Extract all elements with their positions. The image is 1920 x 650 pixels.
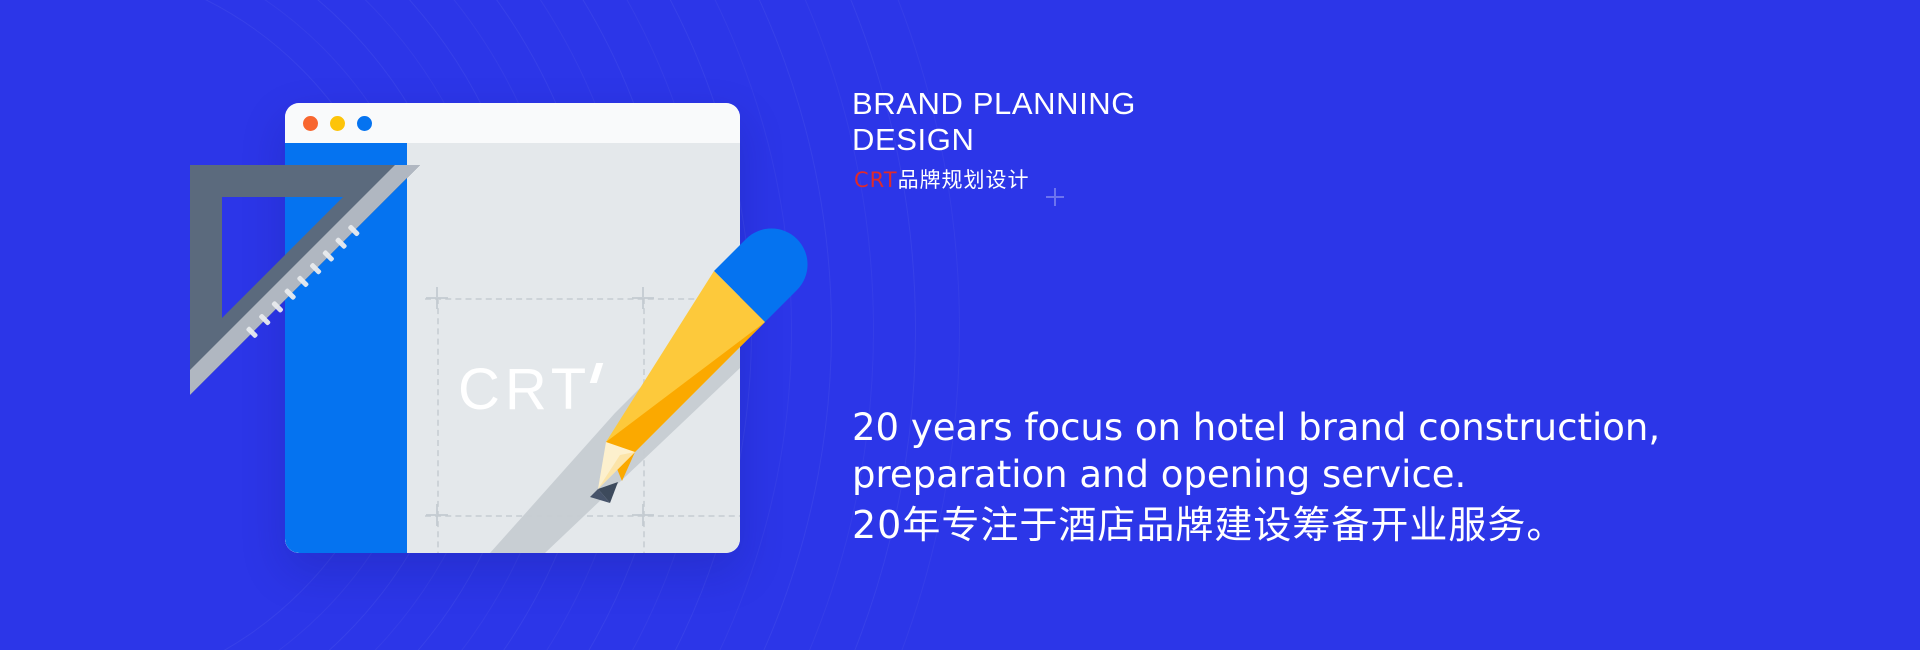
triangle-ruler-icon [180,155,430,405]
brand-design-illustration: CRT [0,0,860,650]
headline-en-line-1: 20 years focus on hotel brand constructi… [852,405,1672,452]
browser-title-bar [285,103,740,143]
window-maximize-dot-icon[interactable] [357,116,372,131]
headline-cn: 20年专注于酒店品牌建设筹备开业服务。 [852,503,1565,549]
kicker-brand-crt: CRT [854,168,898,192]
pencil-icon [560,225,880,545]
kicker-heading: BRAND PLANNING DESIGN [852,86,1492,158]
window-close-dot-icon[interactable] [303,116,318,131]
headline-en: 20 years focus on hotel brand constructi… [852,405,1672,498]
kicker-line-2: DESIGN [852,122,1492,158]
window-minimize-dot-icon[interactable] [330,116,345,131]
kicker-line-1: BRAND PLANNING [852,86,1492,122]
banner-copy: BRAND PLANNING DESIGN CRT品牌规划设计 20 years… [852,0,1912,650]
brand-banner: CRT [0,0,1920,650]
kicker-subtitle-cn-text: 品牌规划设计 [898,168,1030,192]
kicker-subtitle-cn: CRT品牌规划设计 [854,164,1030,194]
headline-en-line-2: preparation and opening service. [852,452,1672,499]
